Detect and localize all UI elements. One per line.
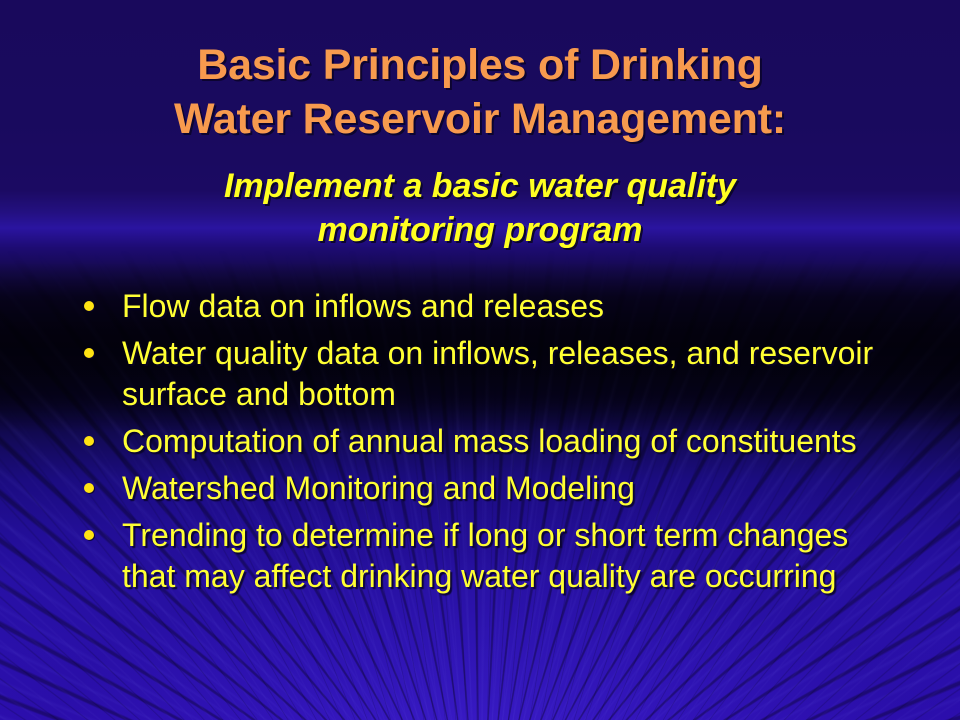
- bullet-dot-icon: [84, 436, 94, 446]
- list-item: Water quality data on inflows, releases,…: [74, 333, 904, 415]
- bullet-dot-icon: [84, 483, 94, 493]
- list-item-text: Flow data on inflows and releases: [122, 288, 604, 324]
- subtitle-line-1: Implement a basic water quality: [0, 164, 960, 208]
- slide-title: Basic Principles of Drinking Water Reser…: [0, 38, 960, 146]
- list-item: Flow data on inflows and releases: [74, 286, 904, 327]
- slide-subtitle: Implement a basic water quality monitori…: [0, 164, 960, 252]
- title-line-2: Water Reservoir Management:: [0, 92, 960, 146]
- subtitle-line-2: monitoring program: [0, 208, 960, 252]
- presentation-slide: Basic Principles of Drinking Water Reser…: [0, 0, 960, 720]
- bullet-dot-icon: [84, 301, 94, 311]
- bullet-dot-icon: [84, 348, 94, 358]
- list-item-text: Computation of annual mass loading of co…: [122, 423, 857, 459]
- list-item-text: Watershed Monitoring and Modeling: [122, 470, 635, 506]
- slide-content: Basic Principles of Drinking Water Reser…: [0, 0, 960, 720]
- bullet-dot-icon: [84, 530, 94, 540]
- bullet-list: Flow data on inflows and releases Water …: [74, 286, 904, 603]
- list-item-text: Trending to determine if long or short t…: [122, 517, 848, 594]
- list-item-text: Water quality data on inflows, releases,…: [122, 335, 873, 412]
- list-item: Watershed Monitoring and Modeling: [74, 468, 904, 509]
- title-line-1: Basic Principles of Drinking: [0, 38, 960, 92]
- list-item: Computation of annual mass loading of co…: [74, 421, 904, 462]
- list-item: Trending to determine if long or short t…: [74, 515, 904, 597]
